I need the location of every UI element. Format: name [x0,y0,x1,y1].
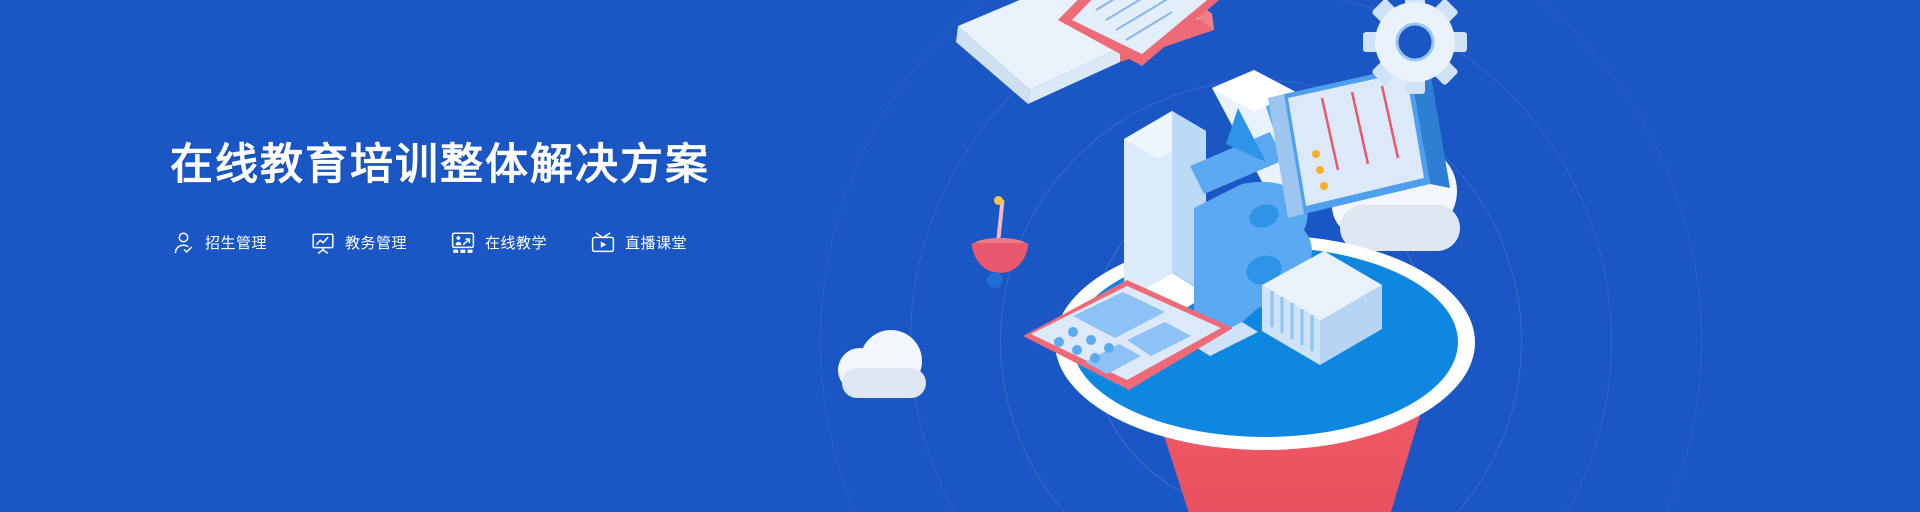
education-hero-banner: 在线教育培训整体解决方案 招生管理 [0,0,1920,512]
feature-item-enrollment[interactable]: 招生管理 [170,230,267,256]
feature-item-online-teaching[interactable]: 在线教学 [450,230,547,256]
tablet-device [1015,270,1255,410]
classroom-teaching-icon [450,230,476,256]
feature-list: 招生管理 教务管理 [170,230,810,256]
feature-label: 直播课堂 [625,232,687,253]
feature-item-academic-affairs[interactable]: 教务管理 [310,230,407,256]
page-title: 在线教育培训整体解决方案 [170,140,810,192]
gear-icon [1350,0,1480,112]
illustration [820,0,1920,512]
feature-label: 在线教学 [485,232,547,253]
cloud-left-shadow [842,368,926,398]
feature-label: 教务管理 [345,232,407,253]
feature-label: 招生管理 [205,232,267,253]
eraser-block [1250,235,1400,385]
clipboard-document [1052,0,1232,100]
spinning-top-knob [994,196,1003,205]
spinning-top-bowl [972,243,1028,273]
live-tv-play-icon [590,230,616,256]
spinning-top-foot [987,272,1003,288]
hero-copy: 在线教育培训整体解决方案 招生管理 [170,140,810,256]
feature-item-live-classroom[interactable]: 直播课堂 [590,230,687,256]
chart-board-icon [310,230,336,256]
user-check-icon [170,230,196,256]
